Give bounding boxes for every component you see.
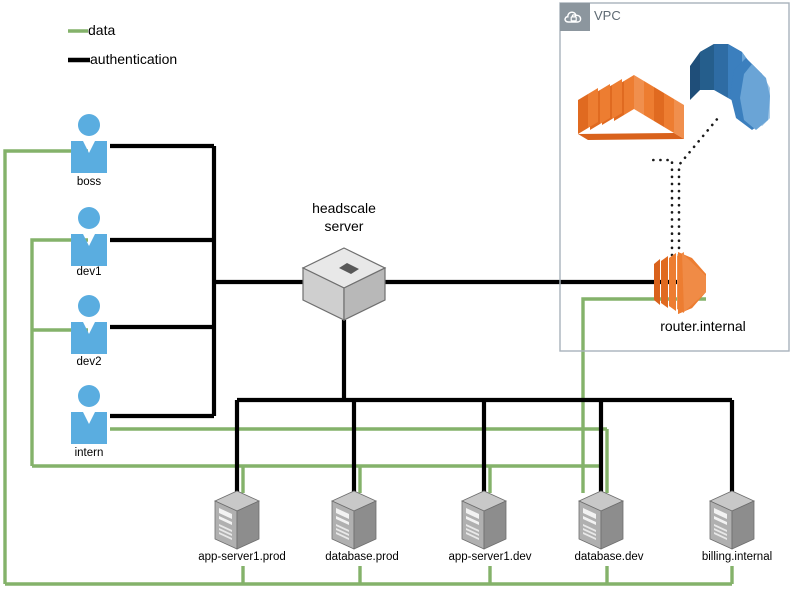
server-billing-internal-icon (710, 491, 754, 549)
router-internal-label: router.internal (608, 318, 792, 334)
server-label-app-server1-dev: app-server1.dev (425, 551, 555, 564)
headscale-server-label-line2: server (294, 218, 394, 234)
headscale-server-label-line1: headscale (294, 200, 394, 216)
aws-database-icon (690, 44, 770, 130)
server-app-server1-dev-icon (462, 491, 506, 549)
legend-label-authentication: authentication (90, 51, 177, 67)
user-dev1-icon (71, 207, 107, 266)
server-database-dev-icon (579, 491, 623, 549)
dotted-router-to-rds (679, 118, 718, 255)
user-boss-icon (71, 114, 107, 173)
user-label-dev1: dev1 (59, 266, 119, 279)
server-label-app-server1-prod: app-server1.prod (177, 551, 307, 564)
aws-router-icon (654, 252, 706, 314)
dotted-router-to-ec2 (650, 160, 672, 255)
server-label-database-prod: database.prod (302, 551, 422, 564)
user-label-dev2: dev2 (59, 356, 119, 369)
diagram-svg (0, 0, 792, 593)
aws-instances-icon (578, 75, 684, 140)
legend-label-data: data (88, 22, 115, 38)
server-app-server1-prod-icon (215, 491, 259, 549)
user-label-intern: intern (59, 447, 119, 460)
user-intern-icon (71, 385, 107, 444)
diagram-canvas: data authentication VPC boss dev1 dev2 i… (0, 0, 792, 593)
user-label-boss: boss (59, 176, 119, 189)
vpc-title: VPC (594, 8, 621, 23)
server-cube-icon (303, 248, 385, 320)
server-label-database-dev: database.dev (549, 551, 669, 564)
user-dev2-icon (71, 295, 107, 354)
server-database-prod-icon (332, 491, 376, 549)
server-label-billing-internal: billing.internal (672, 551, 792, 564)
